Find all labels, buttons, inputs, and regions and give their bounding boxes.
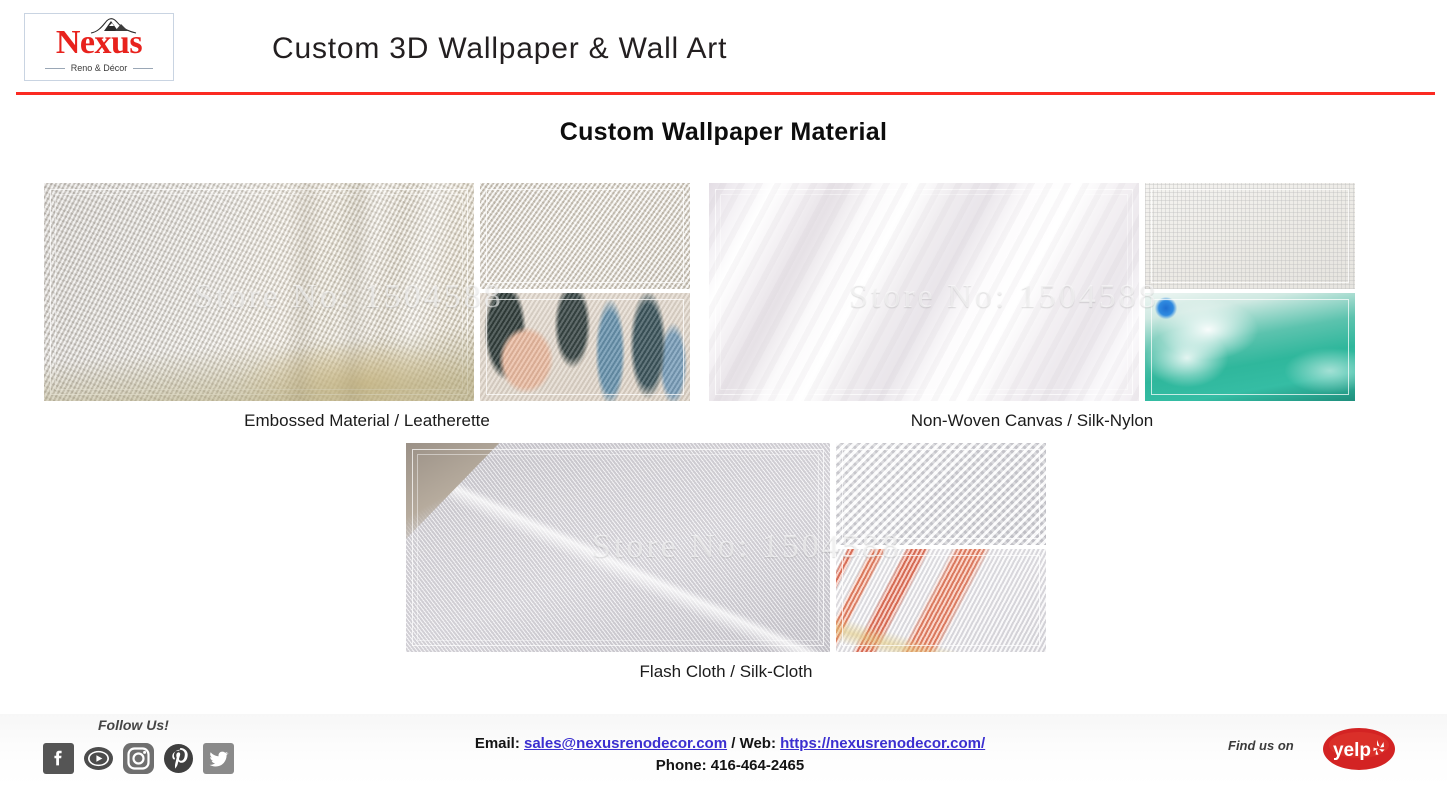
material-card-embossed: Store No: 1504588 Embossed Material / Le… — [44, 183, 690, 431]
contact-separator: / — [727, 735, 740, 752]
yelp-badge[interactable]: yelp — [1322, 727, 1396, 771]
red-stripe-print-photo[interactable] — [836, 549, 1046, 652]
contact-line-1: Email: sales@nexusrenodecor.com / Web: h… — [330, 733, 1130, 755]
silk-drape-photo[interactable] — [709, 183, 1139, 401]
material-caption-nonwoven: Non-Woven Canvas / Silk-Nylon — [709, 411, 1355, 431]
photo-inner-frame — [842, 555, 1040, 646]
contact-block: Email: sales@nexusrenodecor.com / Web: h… — [330, 733, 1130, 777]
header-divider — [16, 92, 1435, 95]
contact-line-2: Phone: 416-464-2465 — [330, 755, 1130, 777]
pinterest-icon[interactable] — [163, 743, 194, 774]
social-links — [43, 743, 234, 774]
youtube-icon[interactable] — [83, 743, 114, 774]
logo-tagline: Reno & Décor — [71, 63, 128, 73]
phone-number: 416-464-2465 — [711, 757, 804, 774]
web-label: Web: — [740, 735, 776, 752]
section-title: Custom Wallpaper Material — [0, 118, 1447, 147]
bubble-weave-photo[interactable] — [836, 443, 1046, 545]
photo-inner-frame — [412, 449, 824, 646]
material-card-flashcloth: Store No: 1504588 Flash Cloth / Silk-Clo… — [406, 443, 1046, 689]
follow-us-label: Follow Us! — [98, 717, 169, 733]
photo-inner-frame — [1151, 189, 1349, 283]
mountain-icon — [87, 16, 139, 36]
embossed-roll-photo[interactable] — [44, 183, 474, 401]
photo-inner-frame — [842, 449, 1040, 539]
photo-inner-frame — [1151, 299, 1349, 395]
photo-inner-frame — [50, 189, 468, 395]
material-caption-embossed: Embossed Material / Leatherette — [44, 411, 690, 431]
photo-inner-frame — [486, 189, 684, 283]
slide-page: Nexus Reno & Décor Custom 3D Wallpaper &… — [0, 0, 1447, 800]
email-link[interactable]: sales@nexusrenodecor.com — [524, 735, 727, 752]
logo-tagline-wrap: Reno & Décor — [25, 63, 173, 73]
photo-inner-frame — [715, 189, 1133, 395]
photo-inner-frame-2 — [417, 454, 819, 641]
page-title: Custom 3D Wallpaper & Wall Art — [272, 32, 727, 66]
page-header: Nexus Reno & Décor Custom 3D Wallpaper &… — [0, 0, 1447, 92]
material-caption-flashcloth: Flash Cloth / Silk-Cloth — [406, 662, 1046, 682]
website-link[interactable]: https://nexusrenodecor.com/ — [780, 735, 985, 752]
photo-inner-frame — [486, 299, 684, 395]
photo-inner-frame-2 — [720, 194, 1128, 390]
email-label: Email: — [475, 735, 520, 752]
material-card-nonwoven: Store No: 1504588 Non-Woven Canvas / Sil… — [709, 183, 1355, 431]
logo-rule-right — [133, 68, 153, 69]
teal-floral-photo[interactable] — [1145, 293, 1355, 401]
photo-inner-frame-2 — [55, 194, 463, 390]
twitter-icon[interactable] — [203, 743, 234, 774]
embossed-texture-photo[interactable] — [480, 183, 690, 289]
phone-label: Phone: — [656, 757, 707, 774]
yelp-wordmark: yelp — [1333, 740, 1371, 761]
flash-cloth-photo[interactable] — [406, 443, 830, 652]
find-us-on-label: Find us on — [1228, 738, 1294, 753]
facebook-icon[interactable] — [43, 743, 74, 774]
nonwoven-mesh-photo[interactable] — [1145, 183, 1355, 289]
instagram-icon[interactable] — [123, 743, 154, 774]
embossed-print-photo[interactable] — [480, 293, 690, 401]
logo-rule-left — [45, 68, 65, 69]
brand-logo[interactable]: Nexus Reno & Décor — [24, 13, 174, 81]
